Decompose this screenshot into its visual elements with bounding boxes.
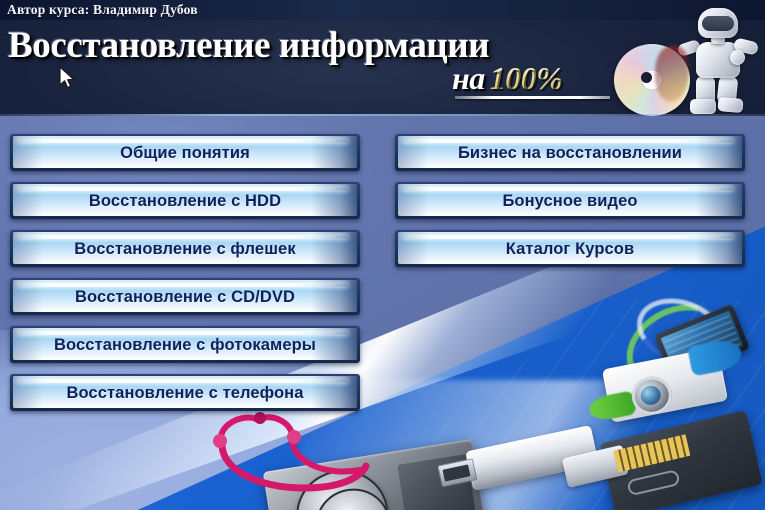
menu-button-gloss [18, 139, 348, 143]
menu-button-gloss [403, 235, 733, 239]
menu-button-face: Восстановление с HDD [13, 184, 357, 216]
menu-button-label: Восстановление с фотокамеры [54, 336, 316, 355]
usb-chip-outline [626, 469, 680, 496]
menu-button-gloss [403, 187, 733, 191]
course-menu-screen: Автор курса: Владимир Дубов Восстановлен… [0, 0, 765, 510]
menu-button-left-3[interactable]: Восстановление с CD/DVD [10, 278, 360, 315]
menu-button-left-2[interactable]: Восстановление с флешек [10, 230, 360, 267]
menu-button-label: Восстановление с HDD [89, 192, 281, 211]
menu-button-right-2[interactable]: Каталог Курсов [395, 230, 745, 267]
robot-left-foot [690, 99, 716, 114]
menu-button-right-0[interactable]: Бизнес на восстановлении [395, 134, 745, 171]
stethoscope-icon [200, 408, 430, 508]
menu-button-label: Каталог Курсов [506, 240, 634, 259]
menu-button-label: Восстановление с флешек [74, 240, 295, 259]
menu-button-face: Восстановление с CD/DVD [13, 280, 357, 312]
robot-right-foot [717, 97, 743, 113]
menu-button-label: Бизнес на восстановлении [458, 144, 682, 163]
menu-button-left-5[interactable]: Восстановление с телефона [10, 374, 360, 411]
menu-button-gloss [18, 235, 348, 239]
page-title: Восстановление информации [8, 24, 489, 67]
menu-button-face: Восстановление с фотокамеры [13, 328, 357, 360]
menu-button-gloss [18, 379, 348, 383]
usb-gold-contacts [613, 434, 690, 472]
subtitle-prefix: на [452, 60, 485, 96]
menu-button-label: Бонусное видео [502, 192, 637, 211]
robot-visor [702, 16, 734, 31]
subtitle-underline [455, 96, 610, 99]
subtitle-percent: 100% [490, 60, 563, 96]
menu-button-gloss [18, 283, 348, 287]
menu-button-right-1[interactable]: Бонусное видео [395, 182, 745, 219]
menu-button-face: Восстановление с флешек [13, 232, 357, 264]
menu-button-face: Бонусное видео [398, 184, 742, 216]
menu-button-face: Общие понятия [13, 136, 357, 168]
menu-button-gloss [403, 139, 733, 143]
menu-button-left-1[interactable]: Восстановление с HDD [10, 182, 360, 219]
header-separator-line [0, 114, 765, 116]
menu-button-left-0[interactable]: Общие понятия [10, 134, 360, 171]
menu-button-face: Бизнес на восстановлении [398, 136, 742, 168]
menu-button-face: Восстановление с телефона [13, 376, 357, 408]
camera-lens [629, 373, 676, 418]
cd-hole-icon [641, 72, 652, 83]
mouse-cursor-arrow [58, 66, 76, 90]
page-subtitle: на100% [452, 60, 562, 97]
menu-button-left-4[interactable]: Восстановление с фотокамеры [10, 326, 360, 363]
header-banner: Автор курса: Владимир Дубов Восстановлен… [0, 0, 765, 116]
author-label: Автор курса: Владимир Дубов [7, 2, 198, 18]
menu-button-label: Восстановление с телефона [66, 384, 303, 403]
robot-right-hand [730, 50, 745, 65]
menu-button-label: Восстановление с CD/DVD [75, 288, 295, 307]
menu-button-gloss [18, 187, 348, 191]
menu-button-face: Каталог Курсов [398, 232, 742, 264]
menu-button-label: Общие понятия [120, 144, 250, 163]
robot-mascot-icon [676, 6, 762, 116]
menu-button-gloss [18, 331, 348, 335]
